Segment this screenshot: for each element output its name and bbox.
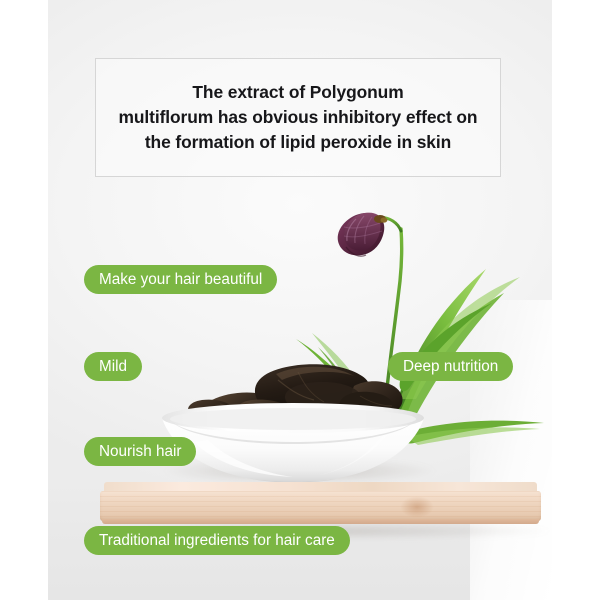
board-grain-texture — [100, 491, 541, 521]
wooden-board — [100, 482, 541, 526]
headline-line-2: multiflorum has obvious inhibitory effec… — [119, 105, 478, 130]
headline-line-3: the formation of lipid peroxide in skin — [119, 130, 478, 155]
benefit-tag-traditional-ingredients: Traditional ingredients for hair care — [84, 526, 350, 555]
right-page-margin — [552, 0, 600, 600]
benefit-tag-make-hair-beautiful: Make your hair beautiful — [84, 265, 277, 294]
left-page-margin — [0, 0, 48, 600]
headline-line-1: The extract of Polygonum — [119, 80, 478, 105]
headline-text: The extract of Polygonum multiflorum has… — [119, 80, 478, 154]
board-bottom-edge — [102, 519, 539, 524]
board-knot — [400, 496, 434, 518]
benefit-tag-mild: Mild — [84, 352, 142, 381]
benefit-tag-nourish-hair: Nourish hair — [84, 437, 196, 466]
product-banner: The extract of Polygonum multiflorum has… — [0, 0, 600, 600]
headline-panel: The extract of Polygonum multiflorum has… — [95, 58, 501, 177]
benefit-tag-deep-nutrition: Deep nutrition — [388, 352, 513, 381]
